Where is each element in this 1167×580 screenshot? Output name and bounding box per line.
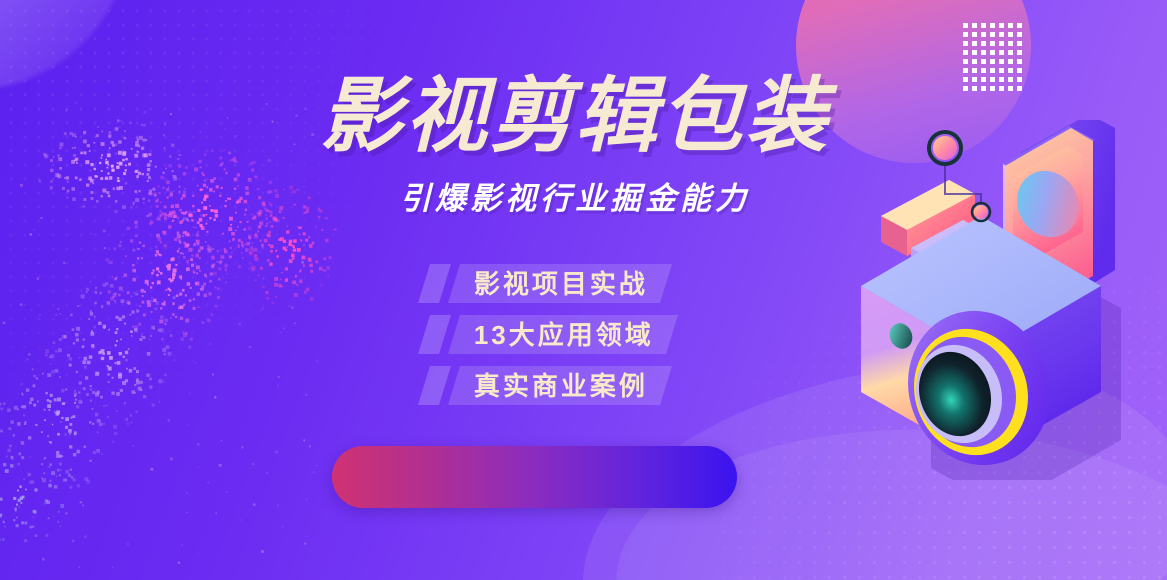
grid-dot <box>1008 77 1013 82</box>
grid-dot <box>972 41 977 46</box>
tag-accent-mark <box>418 366 451 405</box>
grid-dot <box>981 50 986 55</box>
grid-dot <box>1017 23 1022 28</box>
square-dot-grid-icon <box>961 21 1023 92</box>
grid-dot <box>1008 41 1013 46</box>
feature-tag-label: 13大应用领域 <box>474 322 654 348</box>
feature-tag-item: 真实商业案例 <box>424 366 672 405</box>
grid-dot <box>1008 50 1013 55</box>
camera-flash-bar <box>881 180 975 256</box>
dot-texture-bottom-right <box>717 270 1167 580</box>
grid-dot <box>1017 59 1022 64</box>
feature-tag-item: 13大应用领域 <box>424 315 672 354</box>
grid-dot <box>999 59 1004 64</box>
grid-dot <box>1017 32 1022 37</box>
camera-body <box>861 216 1101 462</box>
grid-dot <box>999 68 1004 73</box>
tag-accent-mark <box>418 315 451 354</box>
promo-banner: 影视剪辑包装 引爆影视行业掘金能力 影视项目实战 13大应用领域 真实商业案例 <box>0 0 1167 580</box>
grid-dot <box>981 86 986 91</box>
page-title: 影视剪辑包装 <box>265 70 885 163</box>
grid-dot <box>999 23 1004 28</box>
feature-tag-item: 影视项目实战 <box>424 264 672 303</box>
feature-tag-list: 影视项目实战 13大应用领域 真实商业案例 <box>424 264 672 405</box>
corner-arc-decoration <box>0 0 130 90</box>
camera-small-screen <box>911 220 989 308</box>
grid-dot <box>963 68 968 73</box>
grid-dot <box>1008 86 1013 91</box>
grid-dot <box>972 86 977 91</box>
camera-knob <box>886 320 916 352</box>
grid-dot <box>1017 68 1022 73</box>
camera-lens <box>887 291 1072 480</box>
grid-dot <box>999 41 1004 46</box>
page-subtitle: 引爆影视行业掘金能力 <box>265 173 885 218</box>
grid-dot <box>981 32 986 37</box>
camera-shadow <box>931 270 1121 480</box>
tag-accent-mark <box>418 264 451 303</box>
grid-dot <box>1017 86 1022 91</box>
tag-band: 影视项目实战 <box>448 264 672 303</box>
grid-dot <box>990 32 995 37</box>
feature-tag-label: 真实商业案例 <box>474 373 648 399</box>
grid-dot <box>990 68 995 73</box>
cta-button[interactable] <box>332 446 737 508</box>
grid-dot <box>990 41 995 46</box>
grid-dot <box>981 68 986 73</box>
grid-dot <box>963 50 968 55</box>
tag-band: 真实商业案例 <box>448 366 672 405</box>
grid-dot <box>963 59 968 64</box>
grid-dot <box>1008 23 1013 28</box>
grid-dot <box>990 23 995 28</box>
grid-dot <box>999 86 1004 91</box>
grid-dot <box>981 41 986 46</box>
grid-dot <box>1008 59 1013 64</box>
grid-dot <box>999 50 1004 55</box>
grid-dot <box>990 86 995 91</box>
grid-dot <box>963 32 968 37</box>
camera-marker-dots <box>929 132 990 221</box>
feature-tag-label: 影视项目实战 <box>474 271 648 297</box>
grid-dot <box>981 59 986 64</box>
grid-dot <box>999 32 1004 37</box>
grid-dot <box>963 77 968 82</box>
grid-dot <box>981 23 986 28</box>
grid-dot <box>972 23 977 28</box>
headline-block: 影视剪辑包装 引爆影视行业掘金能力 <box>265 70 885 218</box>
grid-dot <box>1017 77 1022 82</box>
isometric-camera-illustration <box>853 120 1167 480</box>
tag-band: 13大应用领域 <box>448 315 678 354</box>
grid-dot <box>981 77 986 82</box>
grid-dot <box>1017 50 1022 55</box>
grid-dot <box>972 77 977 82</box>
grid-dot <box>972 50 977 55</box>
grid-dot <box>1008 32 1013 37</box>
grid-dot <box>972 68 977 73</box>
grid-dot <box>1017 41 1022 46</box>
grid-dot <box>1008 68 1013 73</box>
grid-dot <box>990 77 995 82</box>
grid-dot <box>990 50 995 55</box>
grid-dot <box>963 41 968 46</box>
grid-dot <box>972 32 977 37</box>
grid-dot <box>990 59 995 64</box>
grid-dot <box>963 86 968 91</box>
grid-dot <box>999 77 1004 82</box>
grid-dot <box>963 23 968 28</box>
grid-dot <box>972 59 977 64</box>
camera-viewfinder-tower <box>1003 120 1115 320</box>
